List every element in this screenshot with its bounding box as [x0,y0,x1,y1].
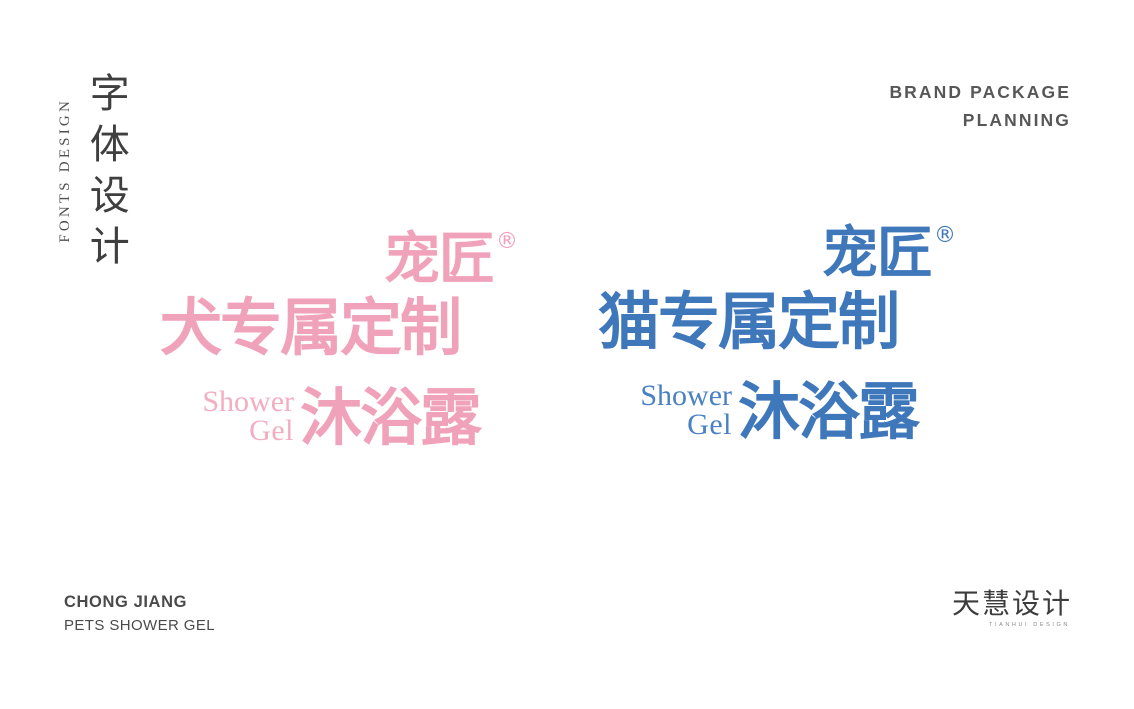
brand-name-row-dog: 宠匠 ® [160,233,540,295]
product-name-dog: 沐浴露 [300,386,480,449]
product-row-dog: Shower Gel 沐浴露 [160,371,540,449]
studio-name-chinese: 天慧设计 [952,589,1072,620]
brand-name-cat: 宠匠 [822,227,932,282]
vertical-title-block: FONTS DESIGN 字体设计 [58,72,126,292]
page-title-line1: BRAND PACKAGE [889,78,1071,106]
design-canvas: FONTS DESIGN 字体设计 BRAND PACKAGE PLANNING… [0,0,1134,709]
footer-caption: CHONG JIANG PETS SHOWER GEL [64,591,215,637]
shower-gel-label-cat: Shower Gel [598,381,732,443]
tagline-dog: 犬专属定制 [160,295,460,360]
tagline-row-dog: 犬专属定制 [160,295,540,371]
registered-trademark-icon: ® [496,231,518,253]
shower-gel-label-dog: Shower Gel [160,387,294,449]
vertical-title-chinese: 字体设计 [85,72,126,276]
brand-name-row-cat: 宠匠 ® [598,227,978,289]
brand-name-dog: 宠匠 [384,233,494,288]
registered-trademark-icon: ® [934,225,956,247]
logo-lockup-cat: 宠匠 ® 猫专属定制 Shower Gel 沐浴露 [598,227,978,443]
shower-gel-line1-dog: Shower [160,387,294,416]
footer-brand-romanized: CHONG JIANG [64,591,215,615]
footer-product-english: PETS SHOWER GEL [64,615,215,638]
page-title-line2: PLANNING [889,106,1071,134]
logo-lockup-dog: 宠匠 ® 犬专属定制 Shower Gel 沐浴露 [160,233,540,449]
shower-gel-line2-dog: Gel [160,416,294,445]
shower-gel-line1-cat: Shower [598,381,732,410]
studio-name-english: TIANHUI DESIGN [952,622,1070,628]
tagline-row-cat: 猫专属定制 [598,289,978,365]
studio-logo: 天慧设计 TIANHUI DESIGN [952,589,1072,628]
tagline-cat: 猫专属定制 [598,289,898,354]
product-row-cat: Shower Gel 沐浴露 [598,365,978,443]
shower-gel-line2-cat: Gel [598,410,732,439]
product-name-cat: 沐浴露 [738,380,918,443]
vertical-title-english: FONTS DESIGN [58,98,73,243]
page-title: BRAND PACKAGE PLANNING [889,78,1071,134]
